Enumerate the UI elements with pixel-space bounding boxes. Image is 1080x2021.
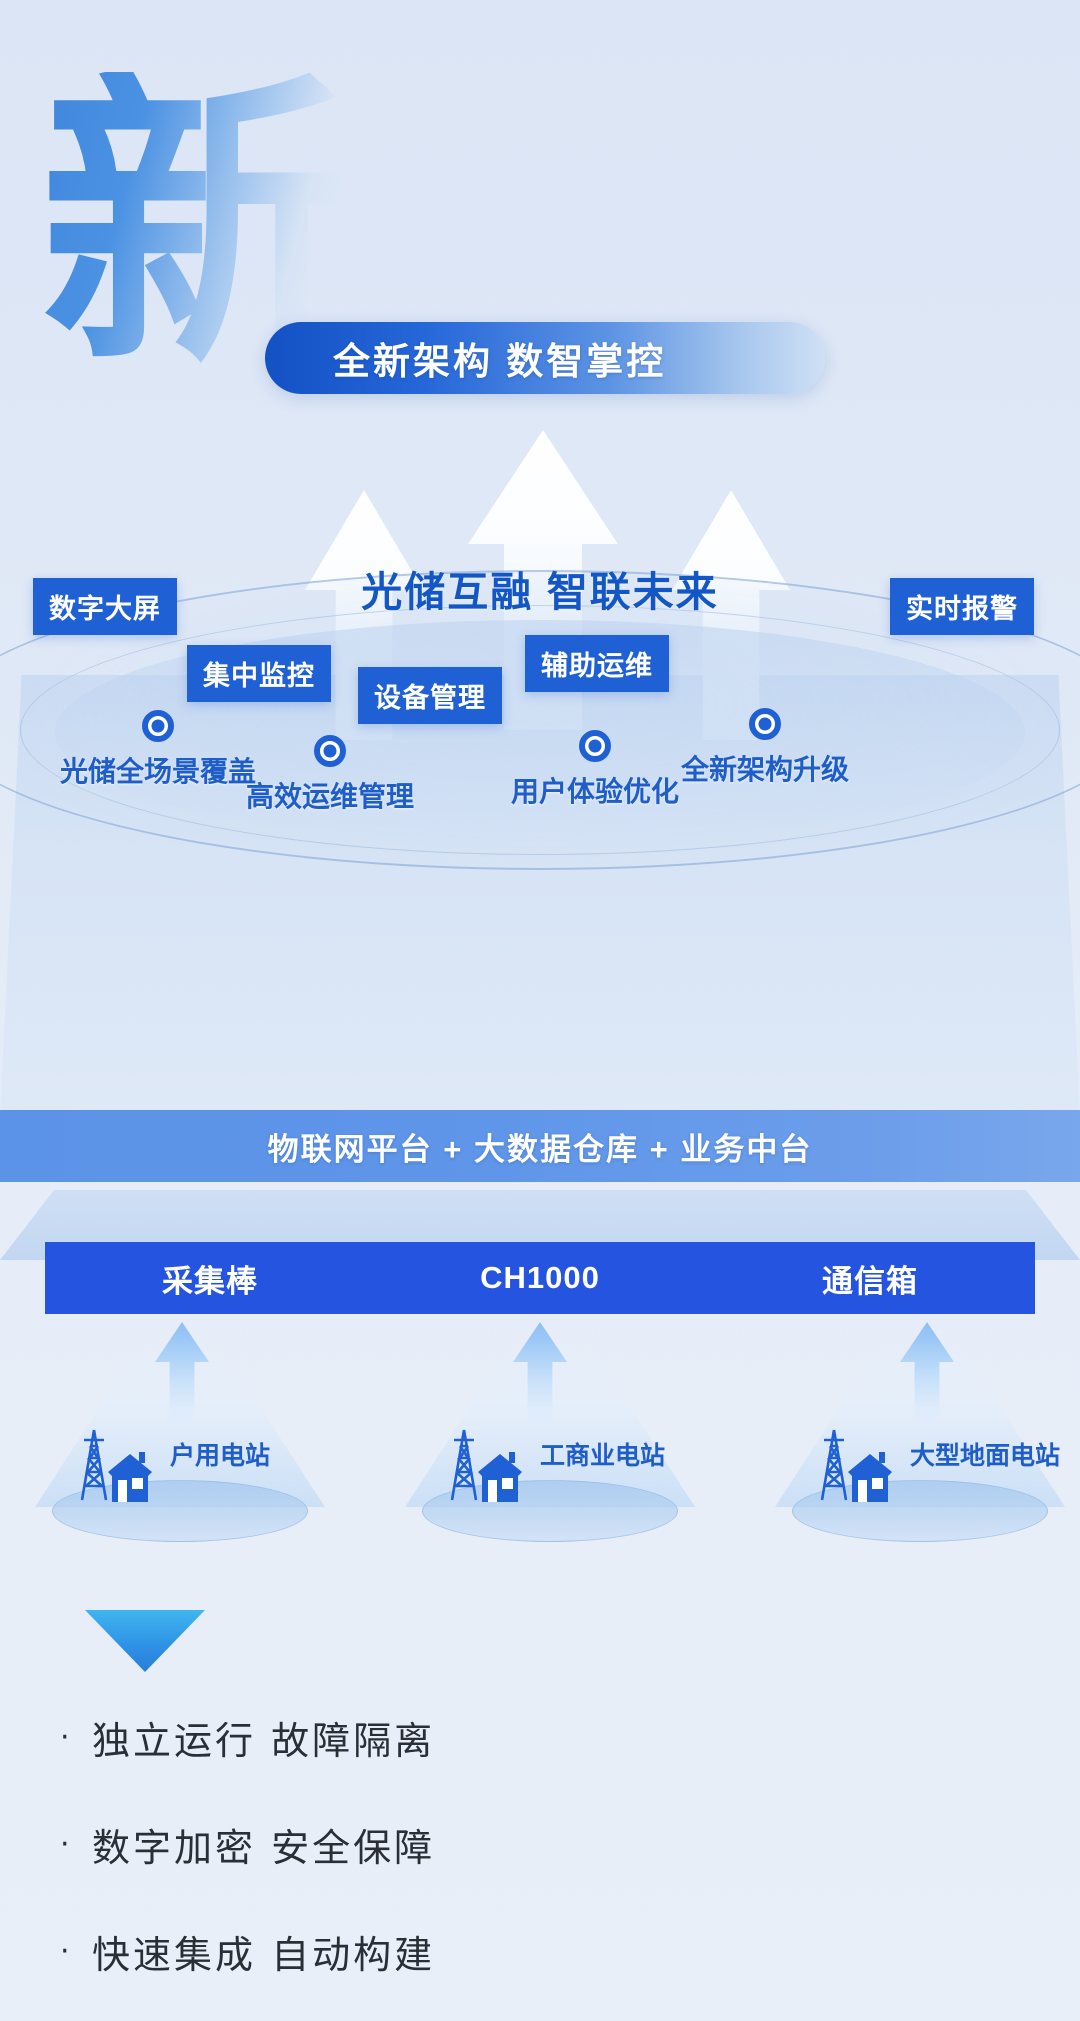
feature-label-0: 光储全场景覆盖: [60, 750, 256, 790]
platform-dome-section: 光储互融 智联未来 数字大屏 实时报警 集中监控 设备管理 辅助运维 光储全场景…: [0, 430, 1080, 1100]
hero-section: 新 全新架构 数智掌控: [0, 0, 1080, 430]
platform-bar-label: 物联网平台 + 大数据仓库 + 业务中台: [268, 1124, 813, 1169]
feature-dot-icon: [749, 708, 781, 740]
feature-label-2: 用户体验优化: [511, 770, 679, 810]
device-product-bar: 采集棒 CH1000 通信箱: [45, 1242, 1035, 1314]
station-label-1: 工商业电站: [540, 1436, 665, 1472]
device-item-collector[interactable]: 采集棒: [45, 1256, 375, 1301]
bottom-section: · 独立运行 故障隔离 · 数字加密 安全保障 · 快速集成 自动构建: [0, 1600, 1080, 2021]
station-group-utility: 大型地面电站: [760, 1422, 1080, 1562]
tag-digital-bigscreen[interactable]: 数字大屏: [33, 578, 177, 635]
page-title: 全新架构 数智掌控: [333, 331, 666, 385]
feature-label-1: 高效运维管理: [246, 775, 414, 815]
feature-label-3: 全新架构升级: [681, 748, 849, 788]
platform-capability-bar: 物联网平台 + 大数据仓库 + 业务中台: [0, 1110, 1080, 1182]
power-station-icon: [808, 1422, 908, 1512]
list-item: · 独立运行 故障隔离: [60, 1710, 860, 1765]
station-label-2: 大型地面电站: [910, 1436, 1060, 1472]
device-item-ch1000[interactable]: CH1000: [375, 1260, 705, 1296]
feature-dot-icon: [579, 730, 611, 762]
device-layer-section: 采集棒 CH1000 通信箱 户用: [0, 1182, 1080, 1602]
bullet-text-1: 数字加密 安全保障: [92, 1817, 435, 1872]
station-group-commercial: 工商业电站: [390, 1422, 720, 1562]
down-triangle-icon: [85, 1610, 205, 1672]
power-station-icon: [68, 1422, 168, 1512]
feature-dot-icon: [142, 710, 174, 742]
bullet-marker: ·: [60, 1934, 92, 1969]
device-item-commbox[interactable]: 通信箱: [705, 1256, 1035, 1301]
list-item: · 数字加密 安全保障: [60, 1817, 860, 1872]
bullet-text-2: 快速集成 自动构建: [92, 1924, 435, 1979]
hero-title-banner: 全新架构 数智掌控: [265, 322, 825, 394]
tag-assisted-om[interactable]: 辅助运维: [525, 635, 669, 692]
bullet-list: · 独立运行 故障隔离 · 数字加密 安全保障 · 快速集成 自动构建: [60, 1710, 860, 2021]
bullet-marker: ·: [60, 1827, 92, 1862]
bullet-text-0: 独立运行 故障隔离: [92, 1710, 435, 1765]
power-station-icon: [438, 1422, 538, 1512]
feature-dot-icon: [314, 735, 346, 767]
station-label-0: 户用电站: [170, 1436, 270, 1472]
tag-central-monitoring[interactable]: 集中监控: [187, 645, 331, 702]
tag-realtime-alarm[interactable]: 实时报警: [890, 578, 1034, 635]
station-group-residential: 户用电站: [20, 1422, 350, 1562]
bullet-marker: ·: [60, 1720, 92, 1755]
tag-device-management[interactable]: 设备管理: [358, 667, 502, 724]
list-item: · 快速集成 自动构建: [60, 1924, 860, 1979]
